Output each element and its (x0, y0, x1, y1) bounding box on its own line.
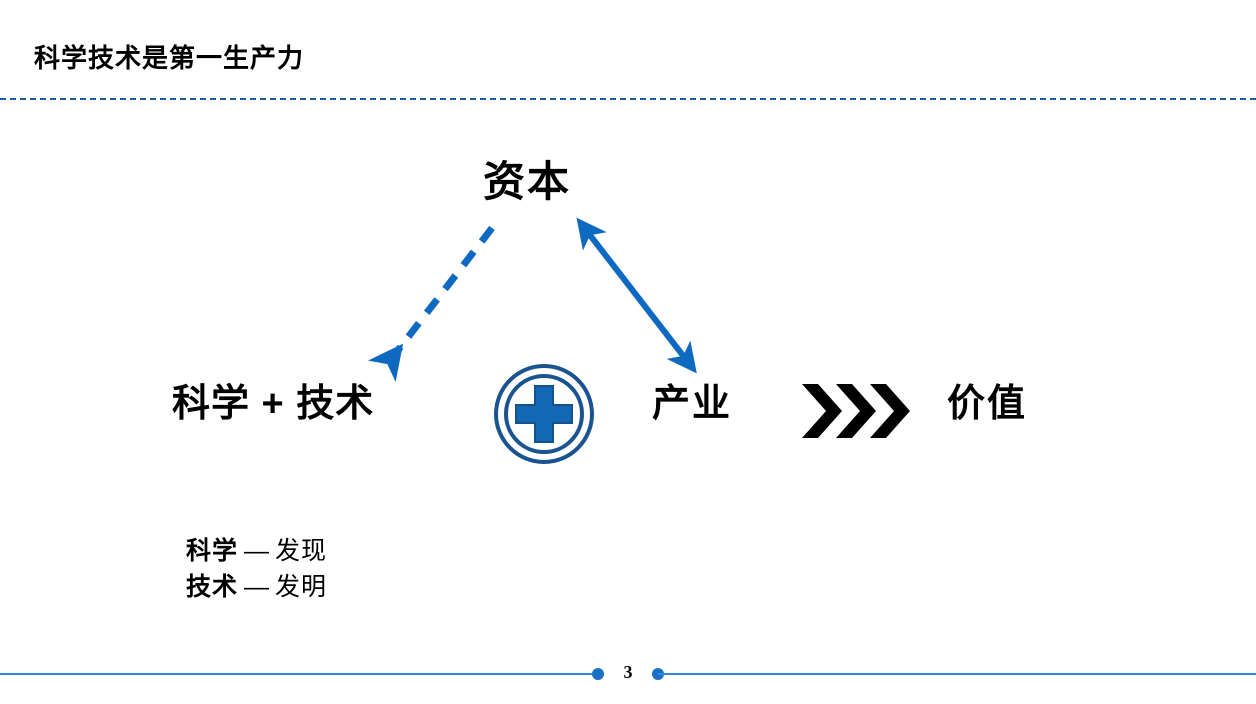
legend-row: 科学—发现 (186, 534, 327, 570)
legend-dash: — (238, 537, 275, 565)
footer-line-right (658, 673, 1256, 675)
diagram-node-value: 价值 (947, 385, 1027, 423)
slide-canvas: 科学技术是第一生产力 资本 科学 + 技术 产业 价值 (0, 0, 1256, 704)
footer-dot-left (592, 668, 604, 680)
page-number: 3 (614, 662, 642, 683)
diagram-node-capital: 资本 (483, 161, 571, 203)
legend: 科学—发现 技术—发明 (186, 534, 327, 605)
legend-row: 技术—发明 (186, 570, 327, 606)
legend-term: 技术 (186, 573, 238, 601)
connector-capital-to-science-tech (392, 228, 492, 358)
legend-term: 科学 (186, 537, 238, 565)
plus-circle-icon (492, 362, 596, 466)
page-title: 科学技术是第一生产力 (34, 38, 304, 75)
diagram-node-industry: 产业 (652, 385, 732, 423)
legend-definition: 发现 (275, 537, 327, 565)
header-divider (0, 98, 1256, 100)
legend-definition: 发明 (275, 573, 327, 601)
triple-chevron-right-icon (800, 382, 912, 440)
diagram-node-science-tech: 科学 + 技术 (172, 385, 374, 423)
legend-dash: — (238, 573, 275, 601)
footer-line-left (0, 673, 598, 675)
connector-capital-to-industry (586, 230, 688, 362)
